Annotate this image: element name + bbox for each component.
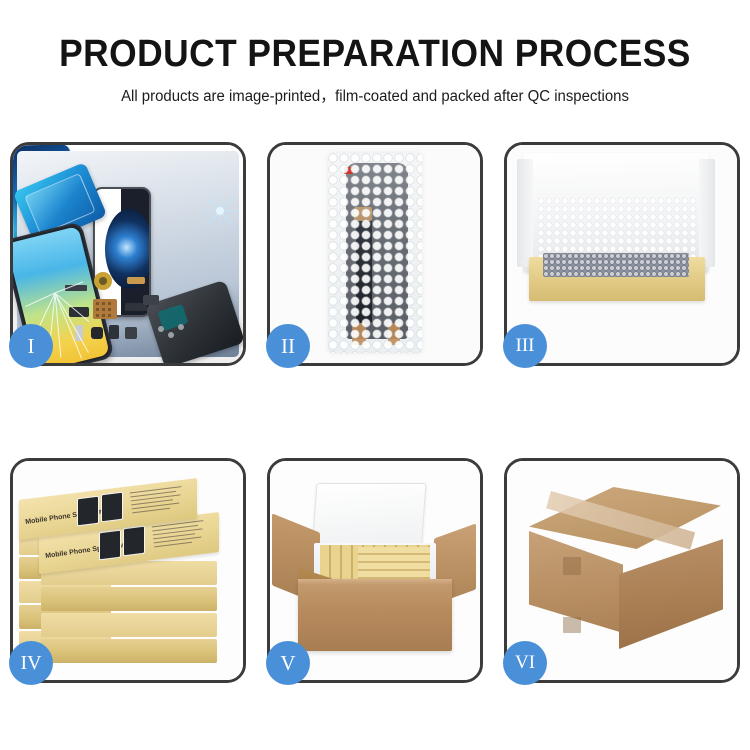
process-step-5[interactable]: V xyxy=(267,458,483,683)
step-badge-2: II xyxy=(266,324,310,368)
step-4-image: Mobile Phone Spare Parts Mobile Phone Sp… xyxy=(13,461,243,680)
foam-sheet xyxy=(537,197,697,261)
carton-seam-upper xyxy=(563,557,581,575)
step-3-image xyxy=(507,145,737,363)
carton-seam-lower xyxy=(563,617,581,633)
process-step-3[interactable]: III xyxy=(504,142,740,366)
bubble-wrap-bag xyxy=(328,153,422,353)
bubble-texture xyxy=(328,153,422,353)
wallpaper-burst-icon xyxy=(199,193,241,229)
step-1-image xyxy=(13,145,243,363)
process-step-2[interactable]: II xyxy=(267,142,483,366)
carton-front-panel xyxy=(298,579,452,651)
product-preparation-infographic: PRODUCT PREPARATION PROCESS All products… xyxy=(0,0,750,750)
process-step-4[interactable]: Mobile Phone Spare Parts Mobile Phone Sp… xyxy=(10,458,246,683)
process-step-1[interactable]: I xyxy=(10,142,246,366)
step-badge-1: I xyxy=(9,324,53,368)
process-step-grid: I II xyxy=(0,0,750,750)
step-badge-6: VI xyxy=(503,641,547,685)
step-badge-4: IV xyxy=(9,641,53,685)
step-badge-3: III xyxy=(503,324,547,368)
step-badge-5: V xyxy=(266,641,310,685)
process-step-6[interactable]: VI xyxy=(504,458,740,683)
step-6-image xyxy=(507,461,737,680)
grey-bubble-wrap-roll xyxy=(543,253,689,277)
